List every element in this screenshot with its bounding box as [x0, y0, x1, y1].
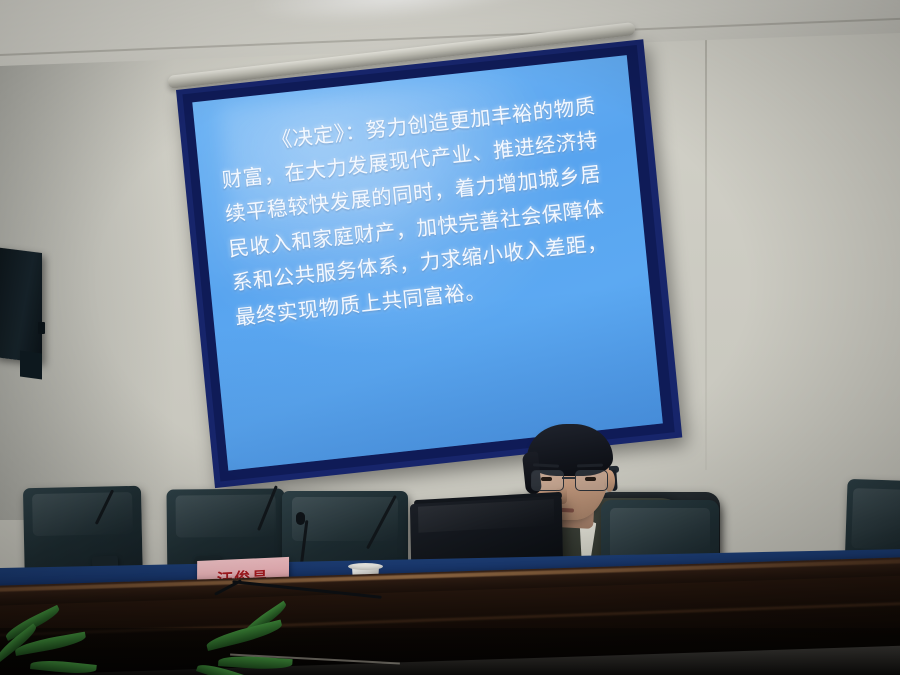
wall-seam	[705, 0, 707, 470]
wall-mounted-display	[0, 247, 42, 363]
glasses-bridge	[562, 477, 575, 479]
ceiling-light-glow	[250, 0, 550, 33]
display-bracket	[20, 350, 42, 379]
conference-room-photo: 《决定》：努力创造更加丰裕的物质 财富，在大力发展现代产业、推进经济持 续平稳较…	[0, 0, 900, 675]
slide-text-block: 《决定》：努力创造更加丰裕的物质 财富，在大力发展现代产业、推进经济持 续平稳较…	[217, 86, 637, 335]
display-button	[38, 322, 45, 334]
projection-screen: 《决定》：努力创造更加丰裕的物质 财富，在大力发展现代产业、推进经济持 续平稳较…	[176, 39, 682, 488]
foreground-shadow	[0, 628, 900, 675]
paper-cup-rim	[348, 563, 383, 570]
presenter-eye	[585, 477, 596, 481]
eyeglasses-icon	[529, 470, 611, 489]
microphone-head	[296, 512, 305, 525]
screen-surface: 《决定》：努力创造更加丰裕的物质 财富，在大力发展现代产业、推进经济持 续平稳较…	[192, 55, 663, 470]
presenter-eye	[541, 477, 552, 481]
screen-border: 《决定》：努力创造更加丰裕的物质 财富，在大力发展现代产业、推进经济持 续平稳较…	[182, 45, 674, 482]
